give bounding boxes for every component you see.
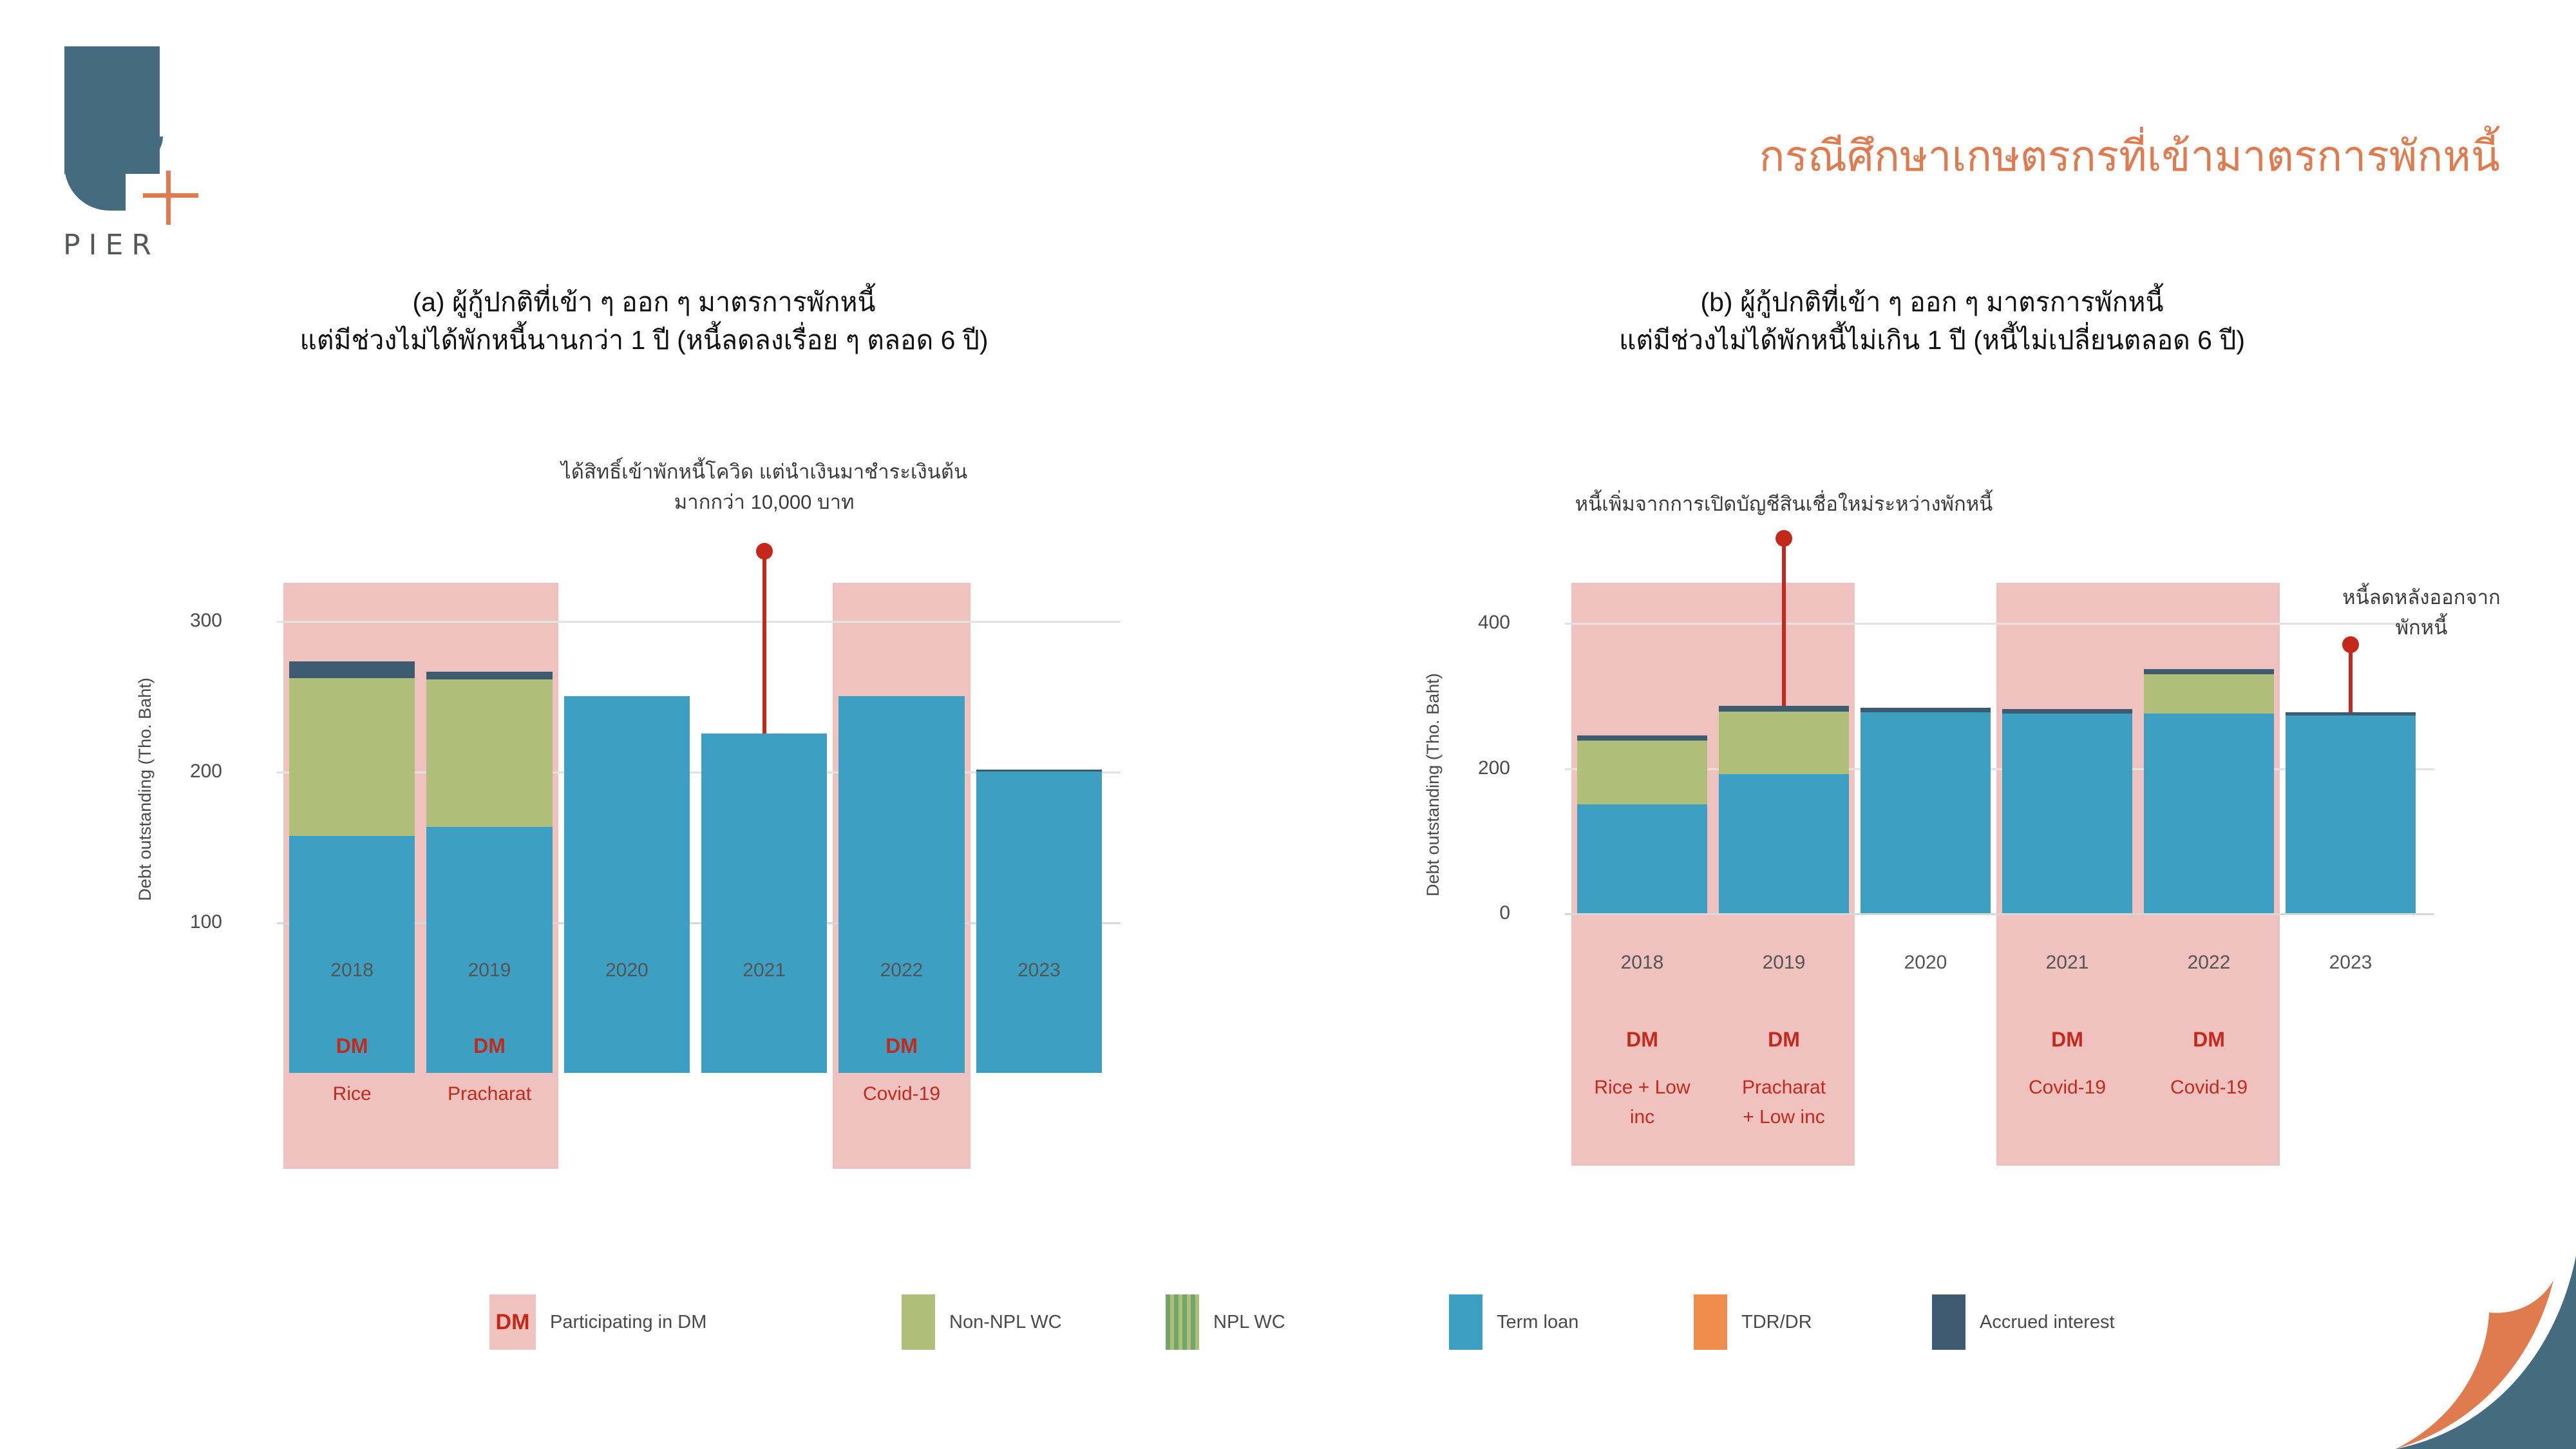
- dm-badge: DM: [833, 1030, 970, 1063]
- annotation-stem: [1782, 538, 1786, 706]
- bar-segment-accrued-interest: [289, 661, 415, 678]
- bar-2021[interactable]: [701, 734, 827, 922]
- legend-label-acc: Accrued interest: [1980, 1312, 2115, 1333]
- bar-2022[interactable]: [838, 696, 964, 922]
- x-tick-2018: 2018: [330, 960, 374, 981]
- bar-segment-term-loan: [1861, 712, 1990, 913]
- legend-item-acc[interactable]: Accrued interest: [1932, 1294, 2115, 1350]
- dm-badge: DM: [283, 1030, 421, 1063]
- x-axis-line: [1565, 913, 2434, 915]
- dm-badge: DM: [1571, 1024, 1713, 1056]
- dm-badge: DM: [421, 1030, 558, 1063]
- annotation-stem: [762, 551, 766, 734]
- legend-label-term: Term loan: [1497, 1312, 1578, 1333]
- bar-segment-non-npl-wc: [289, 678, 415, 837]
- x-tick-2018: 2018: [1621, 952, 1664, 974]
- bar-segment-accrued-interest: [2144, 669, 2273, 674]
- legend-label-dm: Participating in DM: [550, 1312, 706, 1333]
- x-tick-2023: 2023: [2329, 952, 2372, 974]
- annotation-dot: [756, 543, 773, 560]
- bar-segment-non-npl-wc: [2144, 674, 2273, 714]
- bar-segment-term-loan: [2002, 714, 2132, 913]
- y-tick-200: 200: [145, 761, 222, 782]
- bar-segment-term-loan: [2144, 714, 2273, 913]
- legend-item-dm[interactable]: DMParticipating in DM: [489, 1294, 706, 1350]
- bar-segment-non-npl-wc: [1719, 712, 1848, 774]
- bar-segment-non-npl-wc: [1577, 741, 1707, 804]
- x-tick-2020: 2020: [605, 960, 649, 981]
- bar-2018[interactable]: [289, 661, 415, 922]
- bar-2020[interactable]: [564, 696, 690, 922]
- x-tick-2023: 2023: [1018, 960, 1061, 981]
- bar-2023[interactable]: [2286, 712, 2415, 913]
- bar-segment-accrued-interest: [426, 672, 552, 679]
- bar-segment-accrued-interest: [1719, 706, 1848, 712]
- y-tick-0: 0: [1433, 902, 1510, 924]
- annotation-text: ได้สิทธิ์เข้าพักหนี้โควิด แต่นำเงินมาชำร…: [384, 457, 1144, 517]
- annotation-text: หนี้เพิ่มจากการเปิดบัญชีสินเชื่อใหม่ระหว…: [1372, 489, 2196, 520]
- dm-tag-2022: DMCovid-19: [2138, 1024, 2280, 1103]
- panel-b-title: (b) ผู้กู้ปกติที่เข้า ๆ ออก ๆ มาตรการพัก…: [1288, 283, 2576, 360]
- legend-label-wc: Non-NPL WC: [949, 1312, 1062, 1333]
- legend-swatch-acc: [1932, 1294, 1965, 1350]
- dm-program-name: Rice: [283, 1079, 421, 1110]
- bar-segment-accrued-interest: [2002, 709, 2132, 714]
- x-tick-2021: 2021: [2046, 952, 2089, 974]
- dm-program-name: Covid-19: [2138, 1073, 2280, 1103]
- panel-b-title-line2: แต่มีช่วงไม่ได้พักหนี้ไม่เกิน 1 ปี (หนี้…: [1288, 321, 2576, 359]
- gridline-300: [277, 621, 1121, 623]
- dm-program-name: Covid-19: [1996, 1073, 2138, 1103]
- panel-a-title-line1: (a) ผู้กู้ปกติที่เข้า ๆ ออก ๆ มาตรการพัก…: [0, 283, 1288, 321]
- legend-item-npl[interactable]: NPL WC: [1166, 1294, 1285, 1350]
- dm-tag-2018: DMRice: [283, 1030, 421, 1109]
- dm-badge: DM: [1713, 1024, 1855, 1056]
- bar-segment-accrued-interest: [1861, 708, 1990, 712]
- chart-legend: DMParticipating in DMNon-NPL WCNPL WCTer…: [0, 1294, 2576, 1365]
- panel-b: (b) ผู้กู้ปกติที่เข้า ๆ ออก ๆ มาตรการพัก…: [1288, 0, 2576, 1449]
- bar-segment-accrued-interest: [1577, 735, 1707, 741]
- panel-b-title-line1: (b) ผู้กู้ปกติที่เข้า ๆ ออก ๆ มาตรการพัก…: [1288, 283, 2576, 321]
- x-tick-2019: 2019: [468, 960, 511, 981]
- bar-2022[interactable]: [2144, 669, 2273, 913]
- panel-a-title: (a) ผู้กู้ปกติที่เข้า ๆ ออก ๆ มาตรการพัก…: [0, 283, 1288, 360]
- y-tick-400: 400: [1433, 612, 1510, 634]
- legend-item-term[interactable]: Term loan: [1449, 1294, 1578, 1350]
- panel-a: (a) ผู้กู้ปกติที่เข้า ๆ ออก ๆ มาตรการพัก…: [0, 0, 1288, 1449]
- legend-swatch-tdr: [1694, 1294, 1727, 1350]
- legend-item-tdr[interactable]: TDR/DR: [1694, 1294, 1812, 1350]
- x-tick-2019: 2019: [1763, 952, 1806, 974]
- y-axis-label: Debt outstanding (Tho. Baht): [1423, 673, 1443, 896]
- legend-swatch-term: [1449, 1294, 1482, 1350]
- x-tick-2022: 2022: [2188, 952, 2231, 974]
- legend-swatch-dm: DM: [489, 1294, 536, 1350]
- bar-2018[interactable]: [1577, 735, 1707, 913]
- legend-swatch-npl: [1166, 1294, 1199, 1350]
- dm-tag-2019: DMPracharat: [421, 1030, 558, 1109]
- bar-2020[interactable]: [1861, 708, 1990, 913]
- bar-segment-term-loan: [2286, 715, 2415, 913]
- dm-program-name: Pracharat + Low inc: [1713, 1073, 1855, 1133]
- dm-tag-2018: DMRice + Low inc: [1571, 1024, 1713, 1133]
- panel-a-title-line2: แต่มีช่วงไม่ได้พักหนี้นานกว่า 1 ปี (หนี้…: [0, 321, 1288, 359]
- legend-label-npl: NPL WC: [1213, 1312, 1285, 1333]
- dm-badge: DM: [2138, 1024, 2280, 1056]
- dm-program-name: Rice + Low inc: [1571, 1073, 1713, 1133]
- bar-segment-term-loan: [976, 772, 1102, 1073]
- dm-program-name: Covid-19: [833, 1079, 970, 1110]
- bar-segment-term-loan: [701, 734, 827, 1073]
- dm-tag-2021: DMCovid-19: [1996, 1024, 2138, 1103]
- dm-tag-2019: DMPracharat + Low inc: [1713, 1024, 1855, 1133]
- bar-segment-term-loan: [1719, 774, 1848, 913]
- y-axis-label: Debt outstanding (Tho. Baht): [135, 677, 155, 901]
- corner-decoration: [2299, 1256, 2576, 1449]
- bar-segment-non-npl-wc: [426, 679, 552, 828]
- bar-segment-term-loan: [838, 696, 964, 1074]
- annotation-text: หนี้ลดหลังออกจาก พักหนี้: [2280, 583, 2563, 643]
- legend-item-wc[interactable]: Non-NPL WC: [902, 1294, 1062, 1350]
- legend-swatch-wc: [902, 1294, 935, 1350]
- bar-segment-term-loan: [564, 696, 690, 1074]
- annotation-dot: [1776, 530, 1792, 547]
- dm-tag-2022: DMCovid-19: [833, 1030, 970, 1109]
- bar-2019[interactable]: [426, 672, 552, 922]
- annotation-stem: [2349, 644, 2353, 712]
- bar-segment-term-loan: [1577, 804, 1707, 913]
- bar-2019[interactable]: [1719, 706, 1848, 913]
- x-tick-2021: 2021: [743, 960, 786, 981]
- dm-program-name: Pracharat: [421, 1079, 558, 1110]
- bar-2021[interactable]: [2002, 709, 2132, 913]
- bar-2023[interactable]: [976, 770, 1102, 922]
- y-tick-100: 100: [145, 911, 222, 933]
- x-tick-2020: 2020: [1904, 952, 1947, 974]
- y-tick-300: 300: [145, 610, 222, 632]
- dm-badge: DM: [1996, 1024, 2138, 1056]
- y-tick-200: 200: [1433, 757, 1510, 779]
- x-tick-2022: 2022: [880, 960, 923, 981]
- legend-label-tdr: TDR/DR: [1741, 1312, 1812, 1333]
